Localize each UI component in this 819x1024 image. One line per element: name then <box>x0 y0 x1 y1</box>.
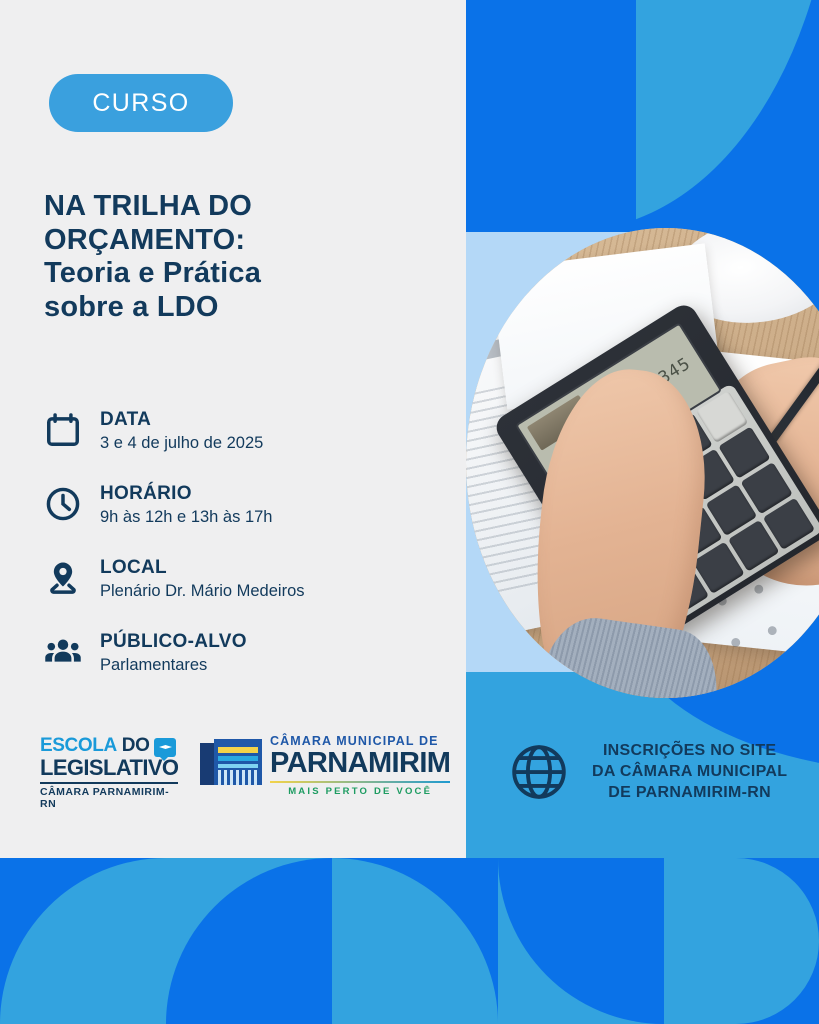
decor-shape-1 <box>0 858 166 1024</box>
detail-row-local: LOCAL Plenário Dr. Mário Medeiros <box>44 556 444 608</box>
hero-photo-calculator: 12345 <box>466 228 819 698</box>
graduation-cap-bubble-icon <box>154 738 176 757</box>
detail-value-data: 3 e 4 de julho de 2025 <box>100 432 263 454</box>
logo-camara-main: PARNAMIRIM <box>270 749 450 778</box>
detail-label-local: LOCAL <box>100 557 305 579</box>
detail-label-horario: HORÁRIO <box>100 483 272 505</box>
curso-badge-label: CURSO <box>92 89 189 118</box>
logo-escola-word3: LEGISLATIVO <box>40 757 178 779</box>
title-line-1: NA TRILHA DO <box>44 190 424 224</box>
logo-camara-municipal: CÂMARA MUNICIPAL DE PARNAMIRIM MAIS PERT… <box>200 735 428 797</box>
clock-icon <box>44 482 100 523</box>
detail-label-publico: PÚBLICO-ALVO <box>100 631 247 653</box>
logo-escola-word1: ESCOLA <box>40 735 117 757</box>
logo-camara-slogan: MAIS PERTO DE VOCÊ <box>270 786 450 797</box>
decor-shape-4 <box>498 858 664 1024</box>
decor-shape-5 <box>664 858 819 1024</box>
background-blue-rectangle-top <box>466 0 636 232</box>
event-details-list: DATA 3 e 4 de julho de 2025 HORÁRIO 9h à… <box>44 408 444 704</box>
detail-value-publico: Parlamentares <box>100 654 247 676</box>
curso-badge: CURSO <box>49 74 233 132</box>
calendar-icon <box>44 408 100 449</box>
logo-camara-divider <box>270 781 450 783</box>
content-panel: CURSO NA TRILHA DO ORÇAMENTO: Teoria e P… <box>0 0 466 858</box>
detail-value-local: Plenário Dr. Mário Medeiros <box>100 580 305 602</box>
background-quarter-circle-top-right <box>636 0 819 232</box>
logo-row: ESCOLA DO LEGISLATIVO CÂMARA PARNAMIRIM-… <box>40 735 428 810</box>
bottom-decorative-band <box>0 858 819 1024</box>
decor-shape-3 <box>332 858 498 1024</box>
poster-root: 12345 CURSO NA TRILHA DO ORÇAMENTO: Teor… <box>0 0 819 1024</box>
detail-row-horario: HORÁRIO 9h às 12h e 13h às 17h <box>44 482 444 534</box>
logo-escola-divider <box>40 782 178 784</box>
globe-icon <box>508 741 570 803</box>
detail-row-publico: PÚBLICO-ALVO Parlamentares <box>44 630 444 682</box>
title-line-2: ORÇAMENTO: <box>44 224 424 258</box>
location-pin-icon <box>44 556 100 597</box>
detail-value-horario: 9h às 12h e 13h às 17h <box>100 506 272 528</box>
people-group-icon <box>44 630 100 671</box>
title-line-3: Teoria e Prática <box>44 257 424 291</box>
logo-escola-subtitle: CÂMARA PARNAMIRIM-RN <box>40 786 178 810</box>
registration-line-2: DA CÂMARA MUNICIPAL <box>592 761 787 782</box>
city-hall-building-icon <box>200 735 262 785</box>
title-line-4: sobre a LDO <box>44 291 424 325</box>
decor-shape-2 <box>166 858 332 1024</box>
detail-label-data: DATA <box>100 409 263 431</box>
registration-line-1: INSCRIÇÕES NO SITE <box>592 740 787 761</box>
registration-callout: INSCRIÇÕES NO SITE DA CÂMARA MUNICIPAL D… <box>508 740 787 803</box>
registration-line-3: DE PARNAMIRIM-RN <box>592 782 787 803</box>
logo-escola-do-legislativo: ESCOLA DO LEGISLATIVO CÂMARA PARNAMIRIM-… <box>40 735 178 810</box>
page-title: NA TRILHA DO ORÇAMENTO: Teoria e Prática… <box>44 190 424 325</box>
logo-escola-word2: DO <box>122 735 150 757</box>
detail-row-data: DATA 3 e 4 de julho de 2025 <box>44 408 444 460</box>
